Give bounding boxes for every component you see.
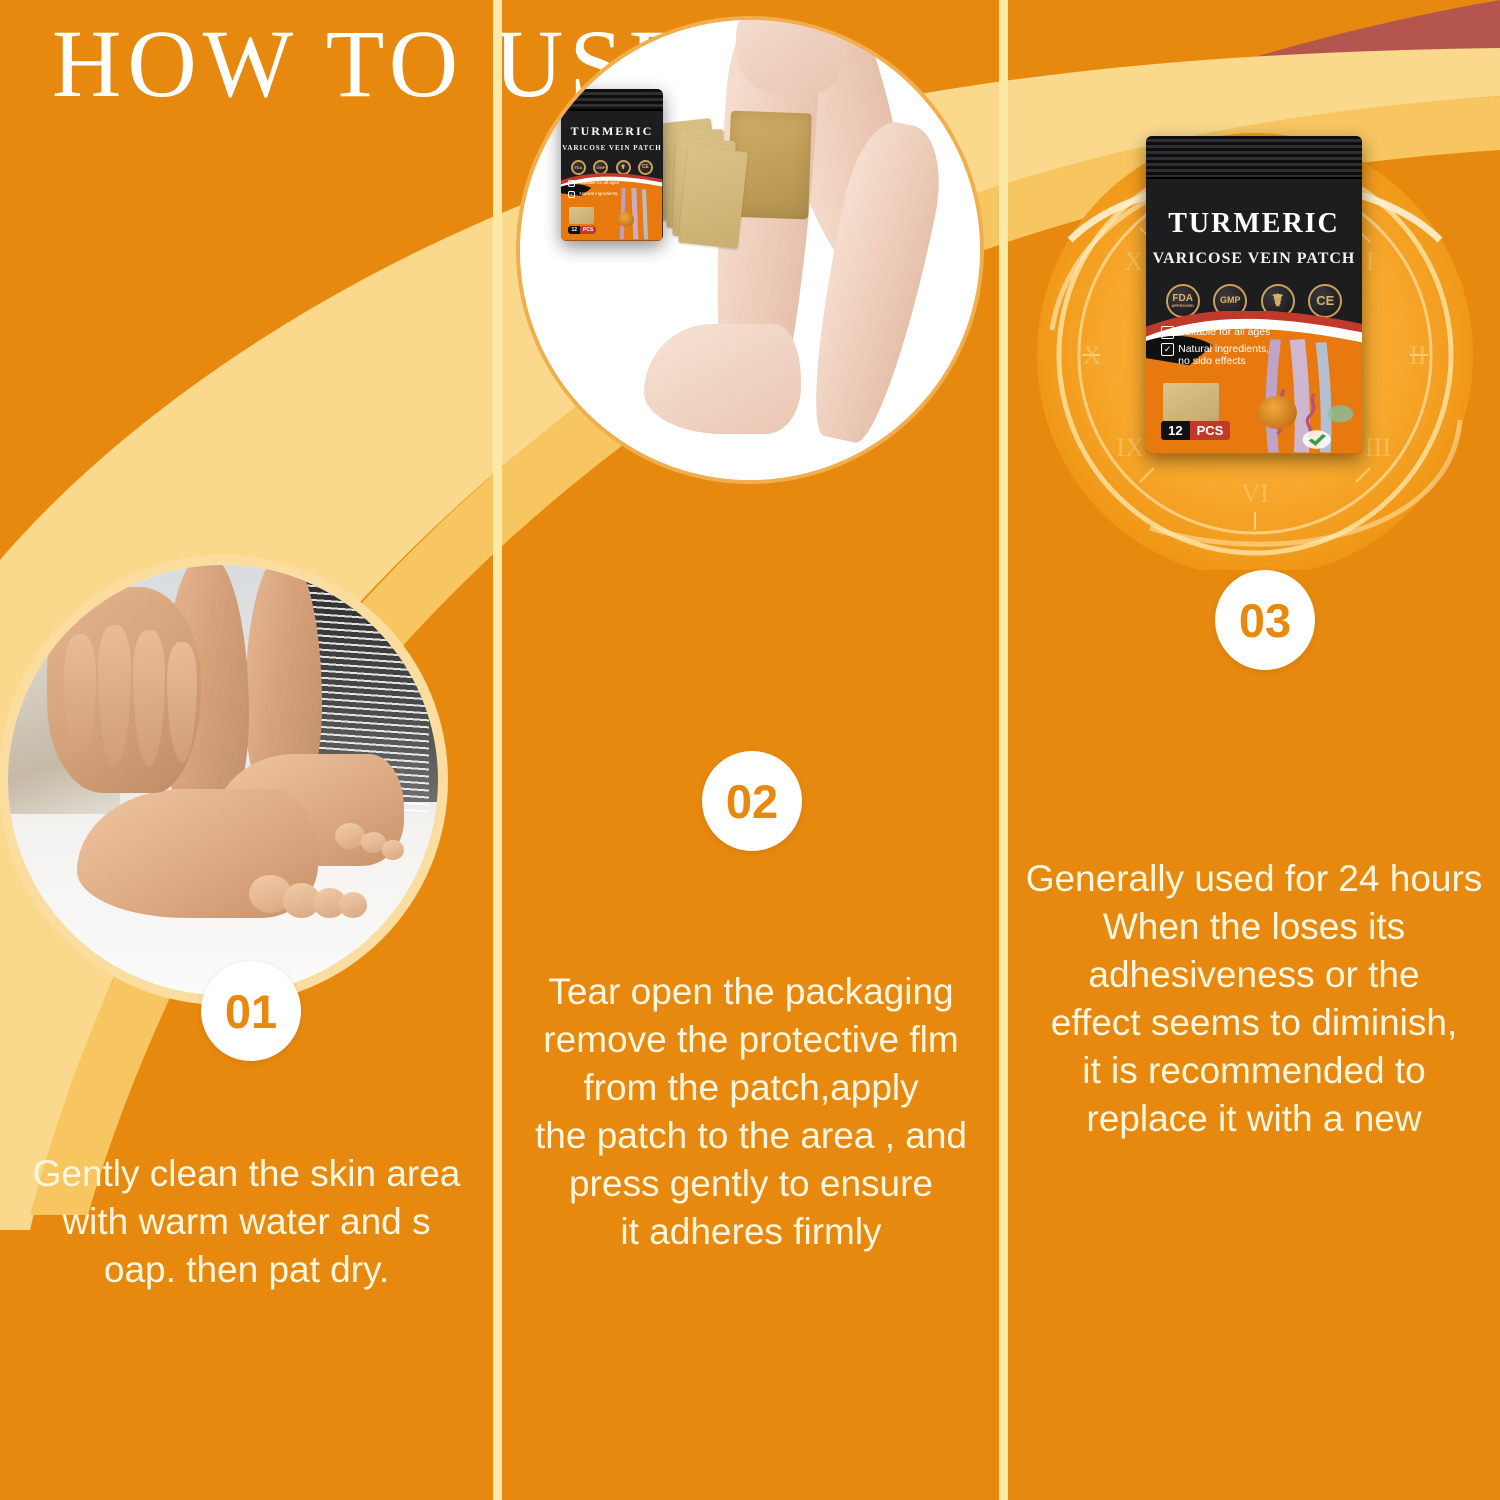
step-caption-03: Generally used for 24 hours When the los… [1011,855,1497,1144]
caption-line: adhesiveness or the [1011,951,1497,999]
svg-text:III: III [1365,433,1391,462]
step-panel-01: 01 Gently clean the skin area with warm … [0,0,493,1500]
step-number-03: 03 [1239,593,1291,648]
package-count-badge: 12 PCS [568,226,596,234]
package-count-badge: 12 PCS [1161,421,1230,440]
package-count-number: 12 [568,226,580,234]
package-count-number: 12 [1161,421,1189,440]
caption-line: remove the protective flm [506,1016,996,1064]
feature-text: Natural ingredients, [1178,343,1269,355]
checkbox-icon: ✓ [1161,343,1174,356]
panel-divider-left [493,0,502,1500]
caption-line: Tear open the packaging [506,968,996,1016]
step-caption-02: Tear open the packaging remove the prote… [506,968,996,1257]
feature-text: Natural ingredients, [579,191,618,196]
legs-patch-illustration: TURMERIC VARICOSE VEIN PATCH FDA GMP ☤ C… [520,20,980,480]
caption-line: it is recommended to [1011,1047,1497,1095]
package-count-unit: PCS [580,226,596,234]
step-panel-03: XII I II III VI IX X XI [1008,0,1500,1500]
package-feature-list: ✓ Suitable for all ages ✓ Natural ingred… [568,180,619,202]
step-number-02: 02 [726,774,778,829]
step-02-photo: TURMERIC VARICOSE VEIN PATCH FDA GMP ☤ C… [520,20,980,480]
caption-line: the patch to the area , and [506,1112,996,1160]
svg-text:VI: VI [1241,479,1268,508]
package-subtitle: VARICOSE VEIN PATCH [561,145,662,152]
caption-line: Gently clean the skin area [10,1150,483,1198]
svg-text:II: II [1409,341,1426,370]
package-brand-name: TURMERIC [1146,210,1362,238]
patch-stack-graphic [1163,383,1219,421]
step-01-photo [8,565,438,995]
package-zip-seal [561,89,662,111]
step-number-01: 01 [225,984,277,1039]
caption-line: from the patch,apply [506,1064,996,1112]
caption-line: press gently to ensure [506,1160,996,1208]
caption-line: with warm water and s [10,1198,483,1246]
package-count-unit: PCS [1190,421,1231,440]
package-subtitle: VARICOSE VEIN PATCH [1146,251,1362,267]
product-package-large: TURMERIC VARICOSE VEIN PATCH FDAAPPROVED… [1146,136,1362,454]
caption-line: it adheres firmly [506,1208,996,1256]
svg-text:X: X [1083,341,1102,370]
feature-text: Suitable for all ages [1178,326,1270,338]
caption-line: Generally used for 24 hours [1011,855,1497,903]
svg-text:I: I [1366,247,1375,276]
feature-text: no sido effects [1178,355,1246,367]
package-brand-name: TURMERIC [561,125,662,137]
panel-divider-right [999,0,1008,1500]
svg-text:IX: IX [1116,433,1144,462]
step-number-badge-01: 01 [201,961,301,1061]
step-number-badge-03: 03 [1215,570,1315,670]
caption-line: replace it with a new [1011,1095,1497,1143]
caption-line: oap. then pat dry. [10,1246,483,1294]
package-feature-list: ✓ Suitable for all ages ✓ Natural ingred… [1161,326,1270,372]
step-caption-01: Gently clean the skin area with warm wat… [10,1150,483,1294]
caption-line: When the loses its [1011,903,1497,951]
infographic-root: HOW TO USE [0,0,1500,1500]
caption-line: effect seems to diminish, [1011,999,1497,1047]
shower-scene-illustration [8,565,438,995]
product-package-small: TURMERIC VARICOSE VEIN PATCH FDA GMP ☤ C… [561,89,662,241]
step-number-badge-02: 02 [702,751,802,851]
feature-text: Suitable for all ages [579,180,619,185]
package-zip-seal [1146,136,1362,179]
step-panel-02: TURMERIC VARICOSE VEIN PATCH FDA GMP ☤ C… [502,0,999,1500]
checkbox-icon: ✓ [1161,326,1174,339]
